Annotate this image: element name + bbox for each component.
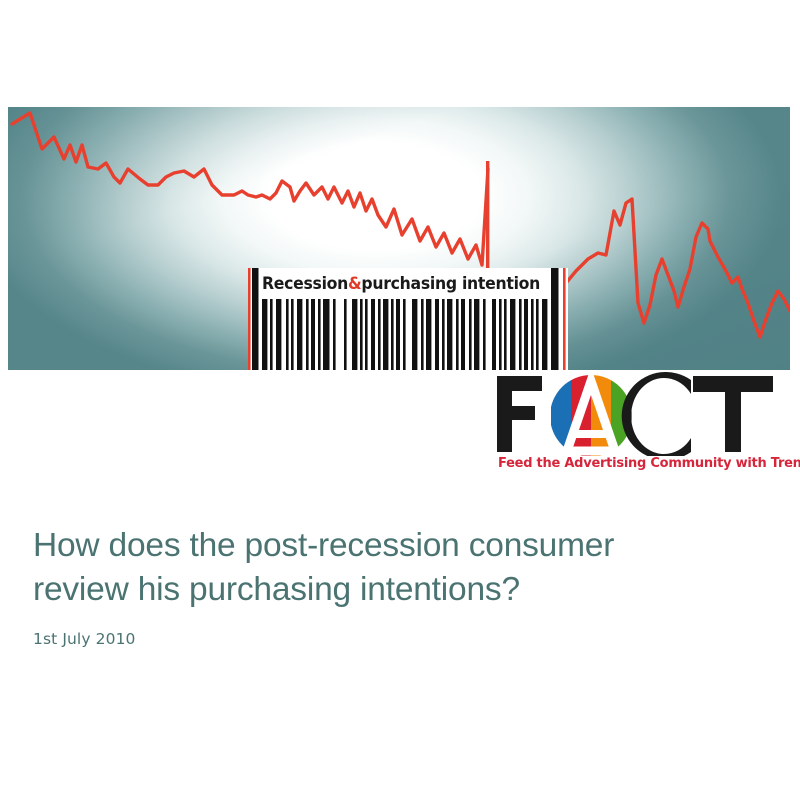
trend-line-right-segment	[558, 199, 790, 337]
trend-line-left-segment	[12, 113, 488, 265]
logo-letter-t-icon	[693, 376, 773, 452]
fact-wordmark	[495, 372, 787, 456]
page-title-line-1: How does the post-recession consumer	[33, 524, 763, 568]
title-block: How does the post-recession consumer rev…	[33, 524, 763, 648]
hero-banner-image: Recession & purchasing intention	[8, 107, 790, 370]
page-title-line-2: review his purchasing intentions?	[33, 568, 763, 612]
barcode-label: Recession & purchasing intention	[262, 268, 540, 298]
fact-logo: Feed the Advertising Community with Tren…	[495, 372, 787, 478]
barcode-graphic: Recession & purchasing intention	[248, 268, 568, 370]
slide-date: 1st July 2010	[33, 630, 763, 648]
logo-letter-f-icon	[497, 376, 542, 452]
page-title: How does the post-recession consumer rev…	[33, 524, 763, 612]
title-slide: Recession & purchasing intention	[0, 0, 800, 800]
barcode-label-suffix: purchasing intention	[361, 274, 540, 293]
barcode-label-prefix: Recession	[262, 274, 348, 293]
logo-letter-c-icon	[622, 372, 691, 456]
fact-logo-tagline: Feed the Advertising Community with Tren…	[498, 456, 786, 471]
barcode-label-ampersand: &	[348, 274, 361, 293]
